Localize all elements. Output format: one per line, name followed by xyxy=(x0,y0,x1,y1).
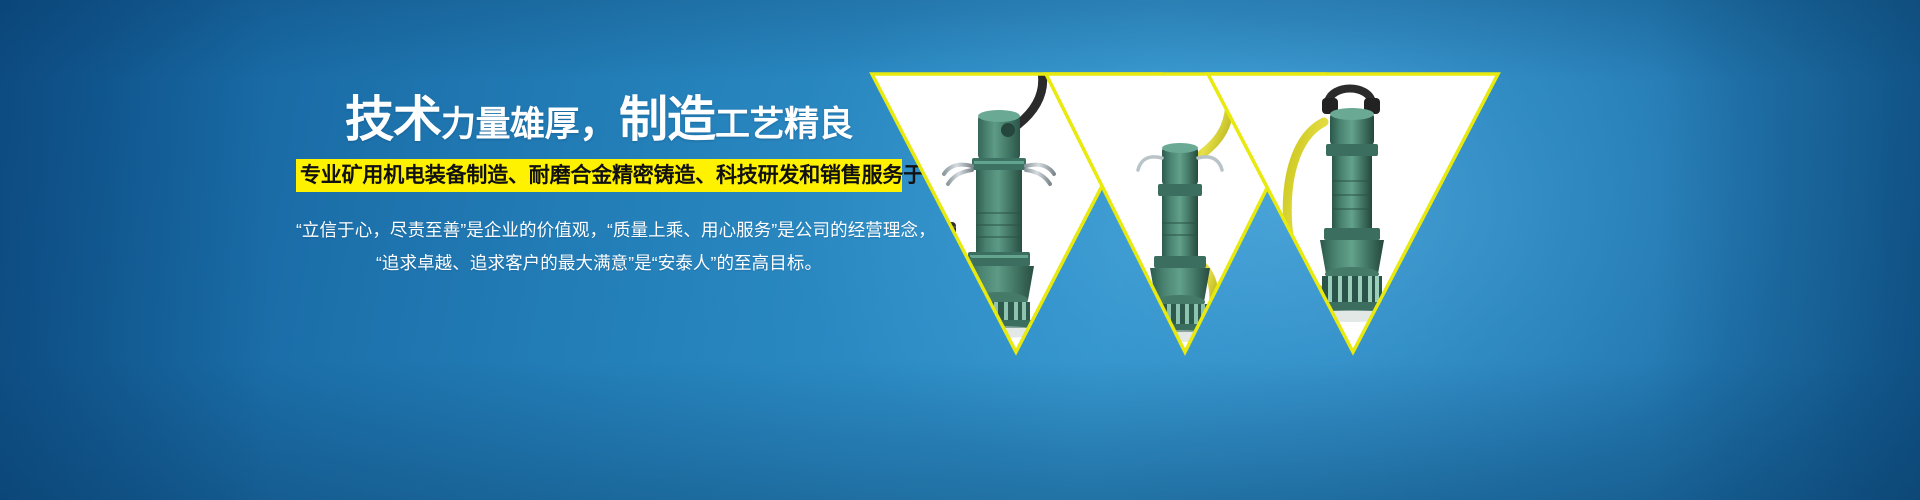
promo-banner: 技术力量雄厚，制造工艺精良 专业矿用机电装备制造、耐磨合金精密铸造、科技研发和销… xyxy=(0,0,1920,500)
headline-segment-3: 制造 xyxy=(619,93,715,147)
paragraph-line-1: “立信于心，尽责至善”是企业的价值观，“质量上乘、用心服务”是公司的经营理念， xyxy=(296,214,902,247)
banner-headline: 技术力量雄厚，制造工艺精良 xyxy=(296,96,902,145)
headline-segment-4: 工艺精良 xyxy=(715,105,853,144)
headline-comma: ， xyxy=(579,101,619,145)
headline-segment-1: 技术 xyxy=(345,93,441,147)
banner-copy-block: 技术力量雄厚，制造工艺精良 专业矿用机电装备制造、耐磨合金精密铸造、科技研发和销… xyxy=(296,96,902,280)
triangle-right xyxy=(1192,62,1514,364)
paragraph-line-2: “追求卓越、追求客户的最大满意”是“安泰人”的至高目标。 xyxy=(296,247,902,280)
headline-segment-2: 力量雄厚 xyxy=(441,105,579,144)
banner-tagline-highlight: 专业矿用机电装备制造、耐磨合金精密铸造、科技研发和销售服务于一体的股份制企业 xyxy=(296,159,902,192)
banner-product-artwork xyxy=(836,0,1920,500)
banner-paragraph: “立信于心，尽责至善”是企业的价值观，“质量上乘、用心服务”是公司的经营理念， … xyxy=(296,214,902,280)
